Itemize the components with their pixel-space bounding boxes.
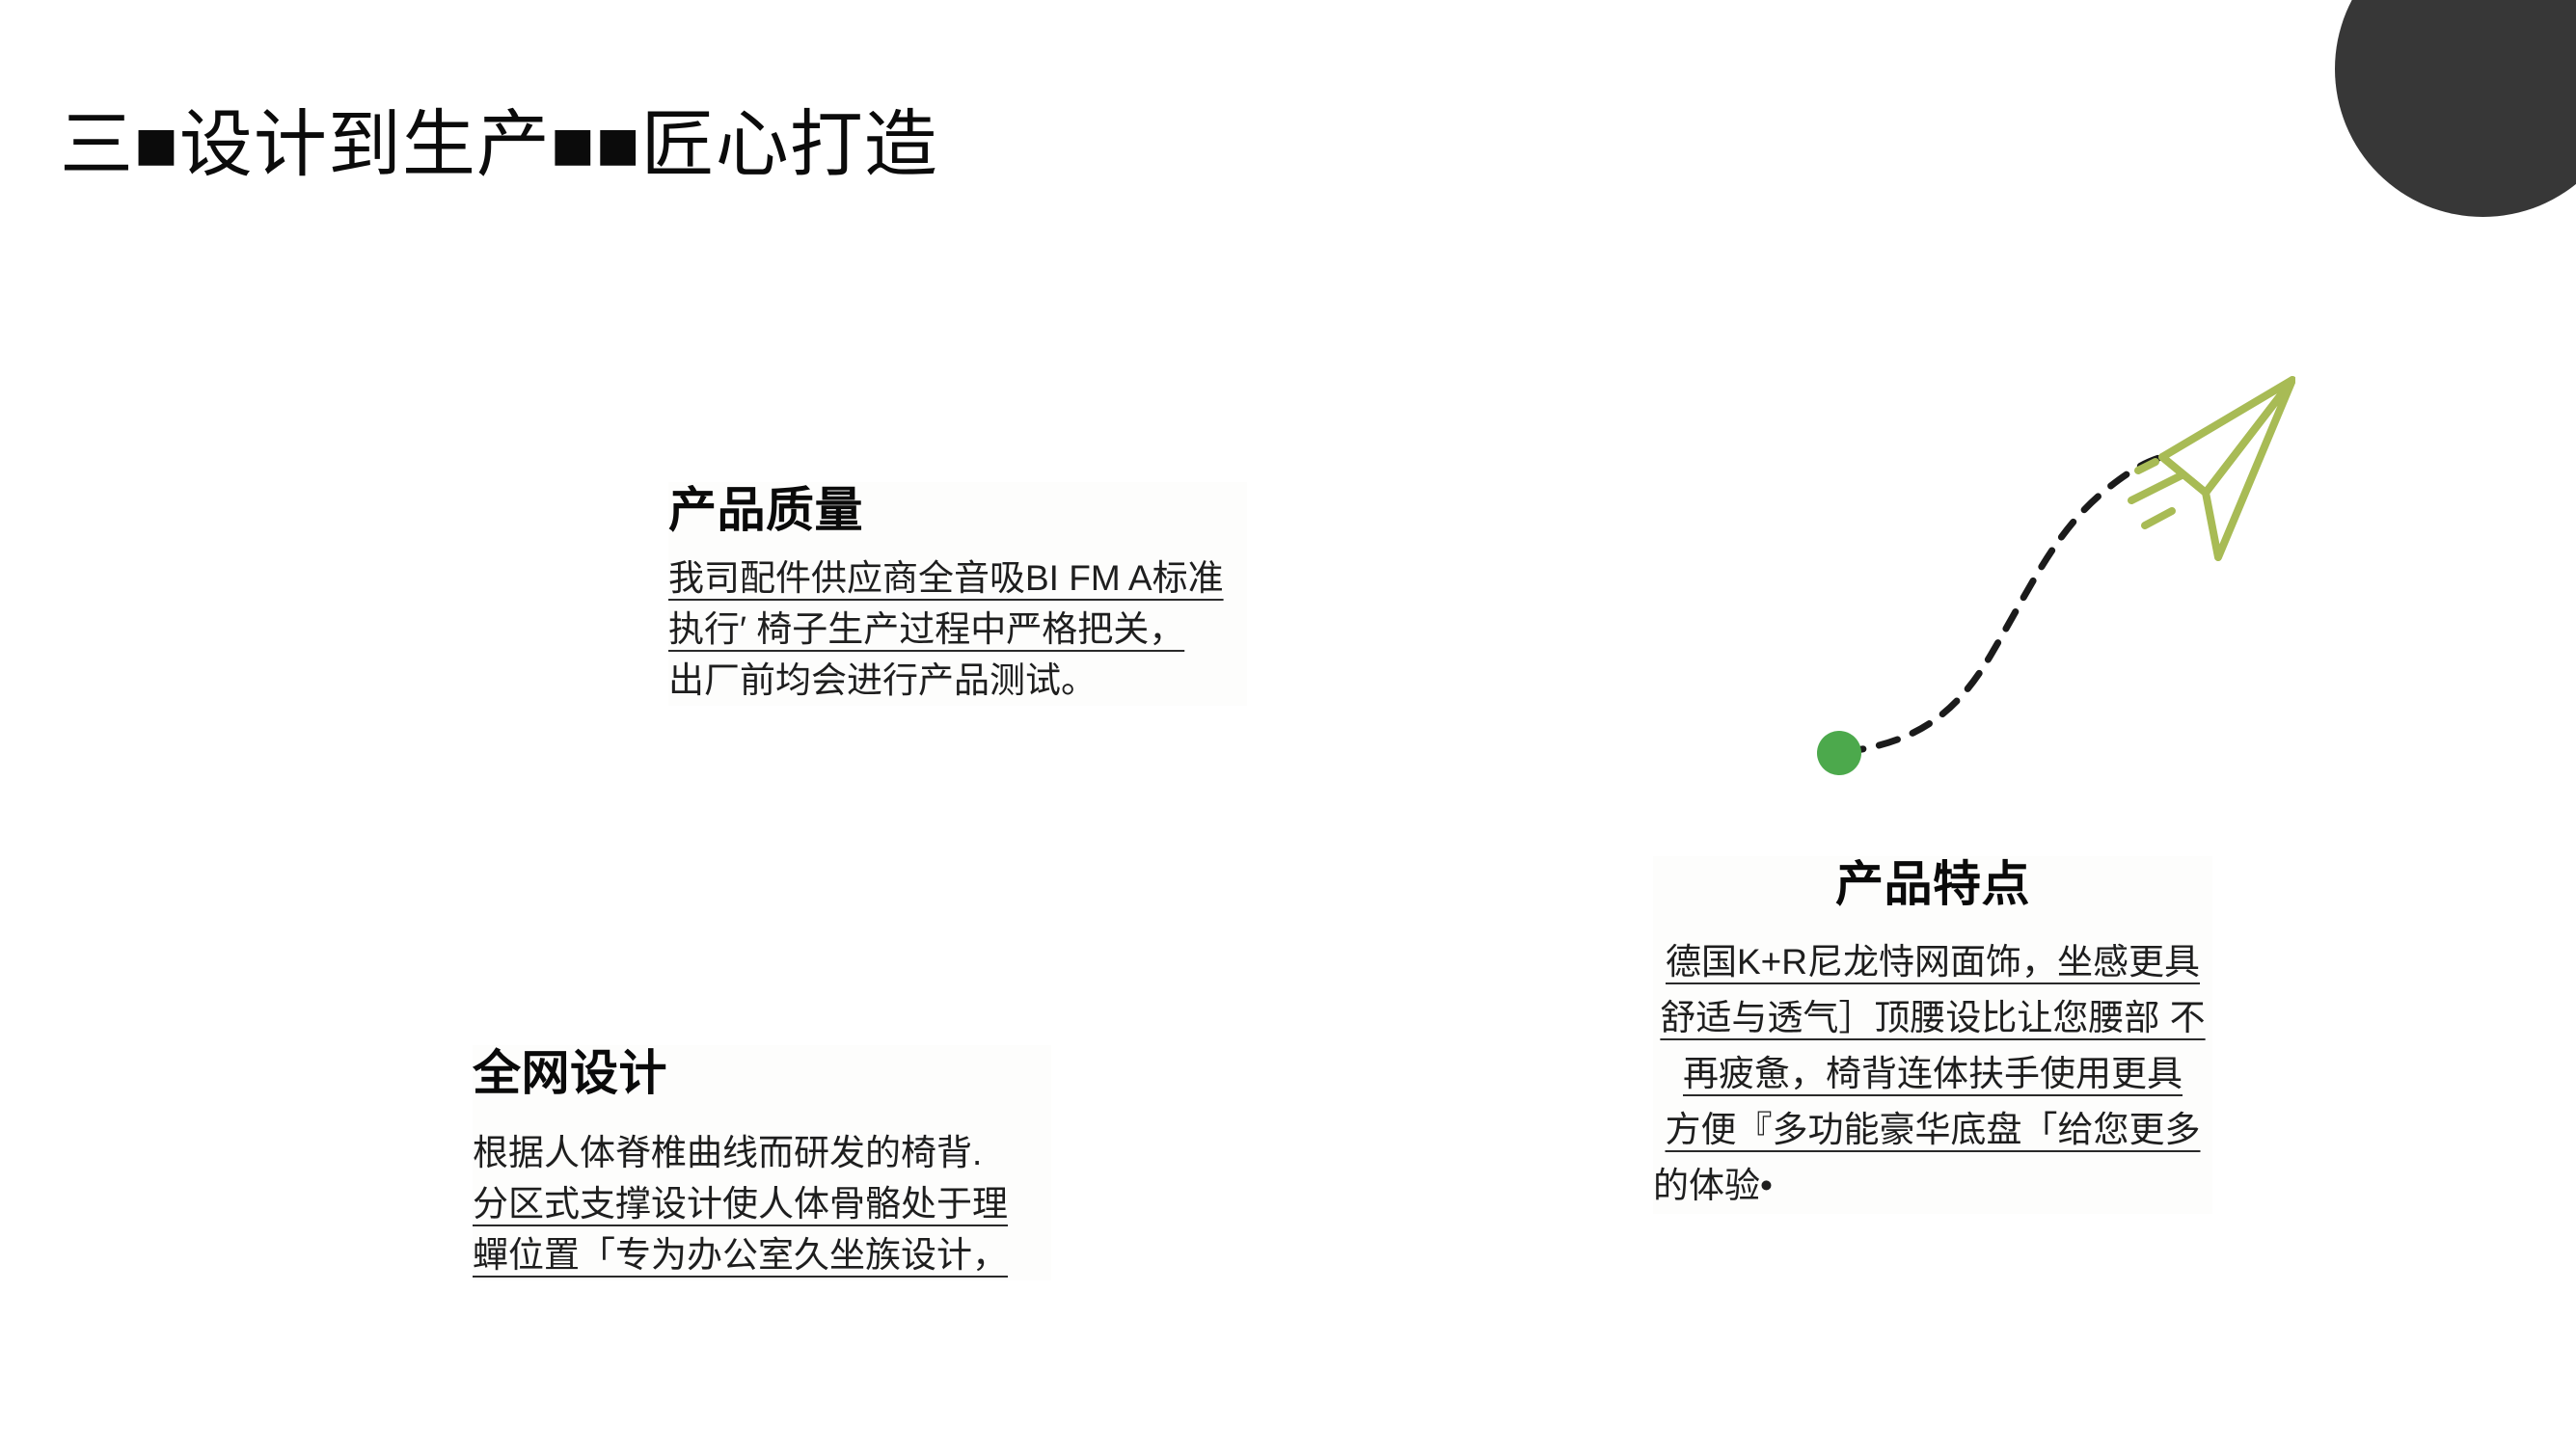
block-heading-features: 产品特点 bbox=[1653, 856, 2212, 913]
body-line: 舒适与透气］顶腰设比让您腰部 不 bbox=[1653, 990, 2212, 1046]
paper-plane-svg bbox=[1813, 364, 2295, 779]
body-line: 蟬位置「专为办公室久坐族设计， bbox=[473, 1229, 1051, 1280]
body-line: 德国K+R尼龙恃网面饰，坐感更具 bbox=[1653, 934, 2212, 990]
dashed-trail-path bbox=[1844, 457, 2162, 752]
body-line: 执行′ 椅子生产过程中严格把关， bbox=[668, 604, 1247, 655]
body-line: 出厂前均会进行产品测试。 bbox=[668, 655, 1247, 706]
body-line: 根据人体脊椎曲线而研发的椅背. bbox=[473, 1127, 1051, 1178]
block-body-quality: 我司配件供应商全音吸BI FM A标准 执行′ 椅子生产过程中严格把关， 出厂前… bbox=[668, 552, 1247, 706]
trail-start-dot bbox=[1817, 731, 1861, 775]
text-block-quality: 产品质量 我司配件供应商全音吸BI FM A标准 执行′ 椅子生产过程中严格把关… bbox=[668, 482, 1247, 706]
page-title: 三■设计到生产■■匠心打造 bbox=[60, 105, 938, 187]
text-block-features: 产品特点 德国K+R尼龙恃网面饰，坐感更具 舒适与透气］顶腰设比让您腰部 不 再… bbox=[1653, 856, 2212, 1214]
paper-plane-glyph bbox=[2162, 380, 2292, 557]
block-body-design: 根据人体脊椎曲线而研发的椅背. 分区式支撑设计使人体骨骼处于理 蟬位置「专为办公… bbox=[473, 1127, 1051, 1280]
block-body-features: 德国K+R尼龙恃网面饰，坐感更具 舒适与透气］顶腰设比让您腰部 不 再疲惫，椅背… bbox=[1653, 934, 2212, 1214]
dark-circle-decoration bbox=[2335, 0, 2576, 217]
slide-canvas: 三■设计到生产■■匠心打造 产品质量 我司配件供应商全音吸BI FM A标准 执… bbox=[0, 0, 2576, 1453]
block-heading-quality: 产品质量 bbox=[668, 482, 1247, 539]
text-block-design: 全网设计 根据人体脊椎曲线而研发的椅背. 分区式支撑设计使人体骨骼处于理 蟬位置… bbox=[473, 1045, 1051, 1280]
body-line: 我司配件供应商全音吸BI FM A标准 bbox=[668, 552, 1247, 604]
body-line: 方便『多功能豪华底盘「给您更多 bbox=[1653, 1102, 2212, 1158]
body-line: 分区式支撑设计使人体骨骼处于理 bbox=[473, 1178, 1051, 1229]
body-line: 的体验• bbox=[1653, 1158, 2212, 1214]
paper-plane-illustration bbox=[1813, 364, 2295, 779]
body-line: 再疲惫，椅背连体扶手使用更具 bbox=[1653, 1046, 2212, 1102]
block-heading-design: 全网设计 bbox=[473, 1045, 1051, 1102]
